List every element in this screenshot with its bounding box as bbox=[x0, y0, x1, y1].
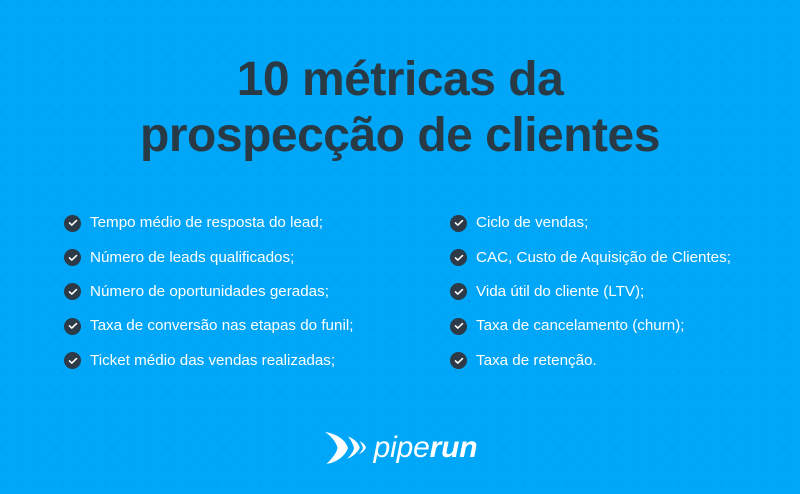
list-item-label: Tempo médio de resposta do lead; bbox=[90, 214, 323, 232]
metrics-lists: Tempo médio de resposta do lead; Número … bbox=[0, 206, 800, 381]
check-circle-icon bbox=[450, 318, 467, 335]
list-item-label: Ticket médio das vendas realizadas; bbox=[90, 352, 335, 370]
check-circle-icon bbox=[64, 249, 81, 266]
list-item: Tempo médio de resposta do lead; bbox=[64, 206, 434, 240]
list-item-label: Ciclo de vendas; bbox=[476, 214, 588, 232]
check-circle-icon bbox=[450, 215, 467, 232]
list-item: Ticket médio das vendas realizadas; bbox=[64, 344, 434, 378]
list-item-label: Número de oportunidades geradas; bbox=[90, 283, 329, 301]
logo-word-pipe: pipe bbox=[374, 431, 430, 464]
list-item: Ciclo de vendas; bbox=[450, 206, 790, 240]
page-title: 10 métricas da prospecção de clientes bbox=[0, 52, 800, 164]
list-item-label: Taxa de conversão nas etapas do funil; bbox=[90, 317, 353, 335]
check-circle-icon bbox=[450, 249, 467, 266]
list-item-label: Taxa de retenção. bbox=[476, 352, 597, 370]
list-item-label: Vida útil do cliente (LTV); bbox=[476, 283, 644, 301]
slide-canvas: 10 métricas da prospecção de clientes Te… bbox=[0, 0, 800, 494]
check-circle-icon bbox=[64, 283, 81, 300]
piperun-wordmark: piperun bbox=[374, 432, 478, 464]
title-line-2: prospecção de clientes bbox=[0, 108, 800, 164]
check-circle-icon bbox=[64, 215, 81, 232]
list-item: CAC, Custo de Aquisição de Clientes; bbox=[450, 240, 790, 274]
list-item-label: CAC, Custo de Aquisição de Clientes; bbox=[476, 249, 731, 267]
piperun-fish-arrow-icon bbox=[323, 430, 367, 466]
check-circle-icon bbox=[450, 283, 467, 300]
title-line-1: 10 métricas da bbox=[0, 52, 800, 108]
piperun-logo: piperun bbox=[0, 430, 800, 466]
list-item-label: Número de leads qualificados; bbox=[90, 249, 294, 267]
check-circle-icon bbox=[450, 352, 467, 369]
list-item: Número de leads qualificados; bbox=[64, 240, 434, 274]
check-circle-icon bbox=[64, 352, 81, 369]
check-circle-icon bbox=[64, 318, 81, 335]
list-item: Número de oportunidades geradas; bbox=[64, 275, 434, 309]
logo-word-run: run bbox=[430, 431, 478, 464]
list-item: Taxa de retenção. bbox=[450, 344, 790, 378]
metrics-list-left: Tempo médio de resposta do lead; Número … bbox=[64, 206, 434, 378]
list-item-label: Taxa de cancelamento (churn); bbox=[476, 317, 685, 335]
metrics-list-right: Ciclo de vendas; CAC, Custo de Aquisição… bbox=[450, 206, 790, 378]
list-item: Taxa de conversão nas etapas do funil; bbox=[64, 309, 434, 343]
list-item: Taxa de cancelamento (churn); bbox=[450, 309, 790, 343]
list-item: Vida útil do cliente (LTV); bbox=[450, 275, 790, 309]
